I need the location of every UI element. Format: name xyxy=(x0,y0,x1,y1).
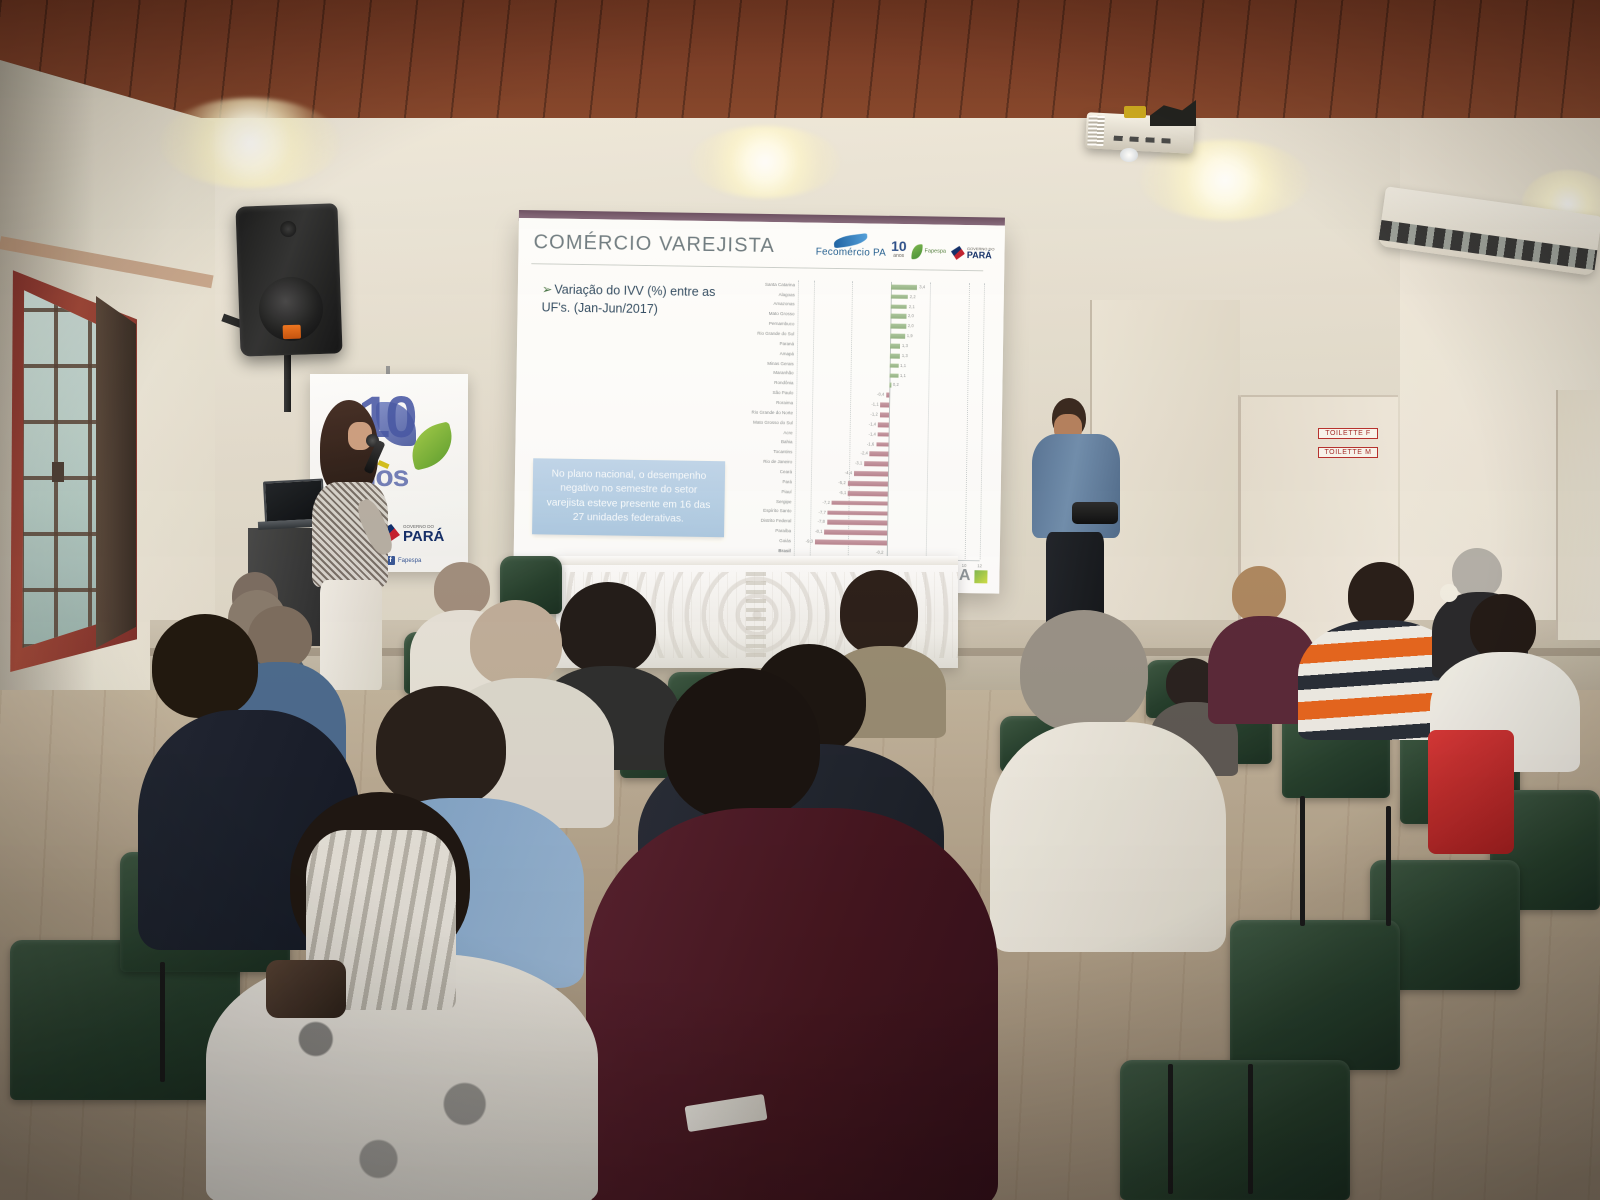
conference-room-scene: TOILETTE F TOILETTE M COMÉRCIO VAREJISTA… xyxy=(0,0,1600,1200)
chart-bar xyxy=(864,461,888,466)
slide-callout-box: No plano nacional, o desempenho negativo… xyxy=(532,458,725,537)
chart-value-label: 1,1 xyxy=(900,373,906,377)
chart-category-label: Maranhão xyxy=(773,371,793,376)
slide-bullet-text: Variação do IVV (%) entre as UF's. (Jan-… xyxy=(541,283,715,317)
chart-category-label: Bahia xyxy=(781,441,793,446)
chart-bar xyxy=(889,383,891,388)
chart-value-label: -7,2 xyxy=(822,500,829,504)
chart-bar xyxy=(890,314,906,319)
chart-bar xyxy=(890,344,900,349)
chart-value-label: 2,0 xyxy=(908,314,914,318)
chart-bar xyxy=(824,530,887,536)
chart-category-label: Minas Gerais xyxy=(767,361,794,366)
chart-x-tick-label: 10 xyxy=(962,563,967,568)
chart-value-label: -0,4 xyxy=(877,393,884,397)
chart-plot-area: Santa Catarina3,4Alagoas2,2Amazonas2,1Ma… xyxy=(794,280,984,559)
chart-value-label: 2,2 xyxy=(910,295,916,299)
chair-leg xyxy=(1300,796,1305,926)
chart-value-label: -1,2 xyxy=(870,412,877,416)
chart-bar xyxy=(878,432,889,437)
chart-bar xyxy=(878,422,889,427)
slide-bullet: ➢Variação do IVV (%) entre as UF's. (Jan… xyxy=(541,280,717,319)
chart-category-label: Rio de Janeiro xyxy=(763,460,792,465)
chart-category-label: Roraima xyxy=(776,401,793,406)
chart-value-label: -9,3 xyxy=(806,540,813,544)
chart-bar xyxy=(891,304,907,309)
audience-head-bald xyxy=(470,600,562,686)
fecomercio-pa-logo: Fecomércio PA xyxy=(816,235,887,259)
chart-bar xyxy=(876,442,888,447)
chart-category-label: Rondônia xyxy=(774,381,793,386)
slide-title-divider xyxy=(531,263,983,271)
chart-bar xyxy=(815,540,887,546)
chart-category-label: Tocantins xyxy=(773,450,792,455)
handbag-on-lap[interactable] xyxy=(266,960,346,1018)
audience-head xyxy=(1470,594,1536,660)
chart-value-label: 1,3 xyxy=(902,354,908,358)
chart-bar xyxy=(890,353,900,358)
audience-head xyxy=(434,562,490,616)
fapespa-logo-text: Fapespa xyxy=(925,249,946,255)
chart-category-label: Paraná xyxy=(779,342,794,347)
chart-bar xyxy=(827,520,888,526)
chart-category-label: Pará xyxy=(782,480,792,485)
chart-value-label: 1,9 xyxy=(907,334,913,338)
chart-category-label: Acre xyxy=(783,431,792,436)
governo-do-para-logo: GOVERNO DO PARÁ xyxy=(951,246,995,261)
chart-bar xyxy=(854,471,888,476)
red-bag-on-chair[interactable] xyxy=(1428,730,1514,854)
cup-in-hand[interactable] xyxy=(1440,584,1458,602)
chart-x-tick-label: 12 xyxy=(977,563,982,568)
chart-value-label: -5,1 xyxy=(839,491,846,495)
chart-value-label: -7,8 xyxy=(818,520,825,524)
chart-value-label: -0,2 xyxy=(876,551,883,555)
chart-bar xyxy=(886,393,889,398)
para-logo-text: PARÁ xyxy=(967,251,995,260)
chart-value-label: -1,1 xyxy=(871,403,878,407)
audience-head xyxy=(152,614,258,718)
fecomercio-swoosh-icon xyxy=(833,233,868,248)
chart-category-label: Mato Grosso xyxy=(769,312,795,317)
chart-value-label: -1,4 xyxy=(869,432,876,436)
fapespa-leaf-logo: Fapespa xyxy=(911,244,946,260)
window-open-leaf xyxy=(96,296,136,648)
para-star-icon xyxy=(951,246,965,260)
chart-category-label: Paraíba xyxy=(775,529,791,534)
banner-para-text: PARÁ xyxy=(403,529,444,544)
projector-vent xyxy=(1087,115,1105,146)
chart-bar xyxy=(890,363,899,368)
toilette-sign-upper: TOILETTE F xyxy=(1318,428,1378,439)
chart-value-label: -2,4 xyxy=(860,452,867,456)
banner-social-text: Fapespa xyxy=(398,558,421,564)
chart-value-label: 1,3 xyxy=(902,344,908,348)
fecomercio-logo-text: Fecomércio PA xyxy=(816,247,886,259)
chair-leg xyxy=(1168,1064,1173,1194)
projector-ports xyxy=(1114,136,1176,144)
chair-backrest xyxy=(1230,920,1400,1070)
chart-value-label: 2,0 xyxy=(908,324,914,328)
window-latch[interactable] xyxy=(52,462,64,482)
chart-value-label: -7,7 xyxy=(818,510,825,514)
chart-bar xyxy=(832,500,888,505)
chart-value-label: -5,2 xyxy=(838,481,845,485)
speaker-brand-logo xyxy=(283,325,301,340)
chart-category-label: Santa Catarina xyxy=(765,283,795,288)
chart-value-label: 1,1 xyxy=(900,364,906,368)
table-top-edge xyxy=(556,556,958,565)
chart-category-label: Sergipe xyxy=(776,500,792,505)
far-right-wall-panel xyxy=(1556,390,1600,640)
projector-lens xyxy=(1120,148,1138,162)
chart-category-label: São Paulo xyxy=(772,391,793,396)
slide-logo-row: Fecomércio PA 10 anos Fapespa GOVERNO DO… xyxy=(816,235,995,261)
chart-bar xyxy=(891,284,917,289)
presenter-white-trousers xyxy=(320,580,382,690)
chair-empty-12[interactable] xyxy=(1230,920,1400,1070)
chart-category-label: Ceará xyxy=(780,470,792,475)
chart-bar xyxy=(890,334,905,339)
ten-years-logo: 10 anos xyxy=(891,239,907,259)
chair-empty-13[interactable] xyxy=(1120,1060,1350,1200)
audience-head-curly xyxy=(560,582,656,674)
leaf-icon xyxy=(911,244,922,259)
audience-shoulders-maroon xyxy=(586,808,998,1200)
chair-leg xyxy=(1248,1064,1253,1194)
audience-head-grey-hair xyxy=(1452,548,1502,598)
chart-category-label: Rio Grande do Sul xyxy=(757,332,794,337)
audience-head xyxy=(1348,562,1414,628)
chart-category-label: Piauí xyxy=(781,490,791,495)
audience-head-grey xyxy=(1020,610,1148,732)
chart-value-label: 3,4 xyxy=(919,285,925,289)
speaker-stand-pole xyxy=(284,352,291,412)
audience-head xyxy=(840,570,918,654)
toilette-sign-lower: TOILETTE M xyxy=(1318,447,1378,458)
audience-shoulders-white-shirt xyxy=(990,722,1226,952)
chart-category-label: Rio Grande do Norte xyxy=(751,410,793,415)
chart-category-label: Pernambuco xyxy=(769,322,795,327)
chart-value-label: -1,6 xyxy=(867,442,874,446)
chart-bar xyxy=(880,412,889,417)
lace-center-strip xyxy=(746,572,766,658)
chart-value-label: 2,1 xyxy=(909,305,915,309)
handheld-camera[interactable] xyxy=(1072,502,1118,524)
chart-value-label: -4,4 xyxy=(845,471,852,475)
chart-bar xyxy=(881,403,890,408)
chair-leg xyxy=(1386,806,1391,926)
chart-category-label: Amazonas xyxy=(773,302,794,307)
projection-screen: COMÉRCIO VAREJISTA Fecomércio PA 10 anos… xyxy=(513,218,1005,594)
chart-bar xyxy=(848,491,888,496)
chart-category-label: Goiás xyxy=(779,539,791,544)
chart-value-label: -3,1 xyxy=(855,462,862,466)
chart-bar xyxy=(828,510,888,516)
slide-title: COMÉRCIO VAREJISTA xyxy=(533,231,775,258)
chart-value-label: -1,4 xyxy=(869,422,876,426)
chart-category-label: Amapá xyxy=(780,352,794,357)
chart-bar xyxy=(870,452,889,457)
chart-bar xyxy=(848,481,888,486)
projector-mount-clamp xyxy=(1124,106,1146,118)
chart-value-label: 0,2 xyxy=(893,383,899,387)
chair-leg xyxy=(160,962,165,1082)
ten-years-number: 10 xyxy=(891,239,907,253)
chart-bar xyxy=(885,551,887,556)
chart-bar xyxy=(890,324,906,329)
chart-category-label: Espírito Santo xyxy=(763,509,791,514)
chart-category-label: Mato Grosso do Sul xyxy=(753,420,793,425)
chart-bar xyxy=(890,373,899,378)
presentation-slide: COMÉRCIO VAREJISTA Fecomércio PA 10 anos… xyxy=(513,218,1005,594)
audience-head xyxy=(1232,566,1286,622)
speaker-tweeter xyxy=(280,221,297,238)
audience-head xyxy=(664,668,820,820)
pa-speaker xyxy=(235,203,342,356)
audience-head xyxy=(376,686,506,808)
ivv-variation-bar-chart: Santa Catarina3,4Alagoas2,2Amazonas2,1Ma… xyxy=(732,279,989,573)
ten-years-sub: anos xyxy=(893,253,904,259)
chart-category-label: Alagoas xyxy=(779,293,795,298)
chart-value-label: -8,1 xyxy=(815,530,822,534)
bullet-arrow-icon: ➢ xyxy=(542,282,553,296)
chart-category-label: Brasil xyxy=(778,549,791,554)
chart-bar xyxy=(891,294,908,299)
chair-backrest xyxy=(1120,1060,1350,1200)
chart-category-label: Distrito Federal xyxy=(761,519,792,524)
